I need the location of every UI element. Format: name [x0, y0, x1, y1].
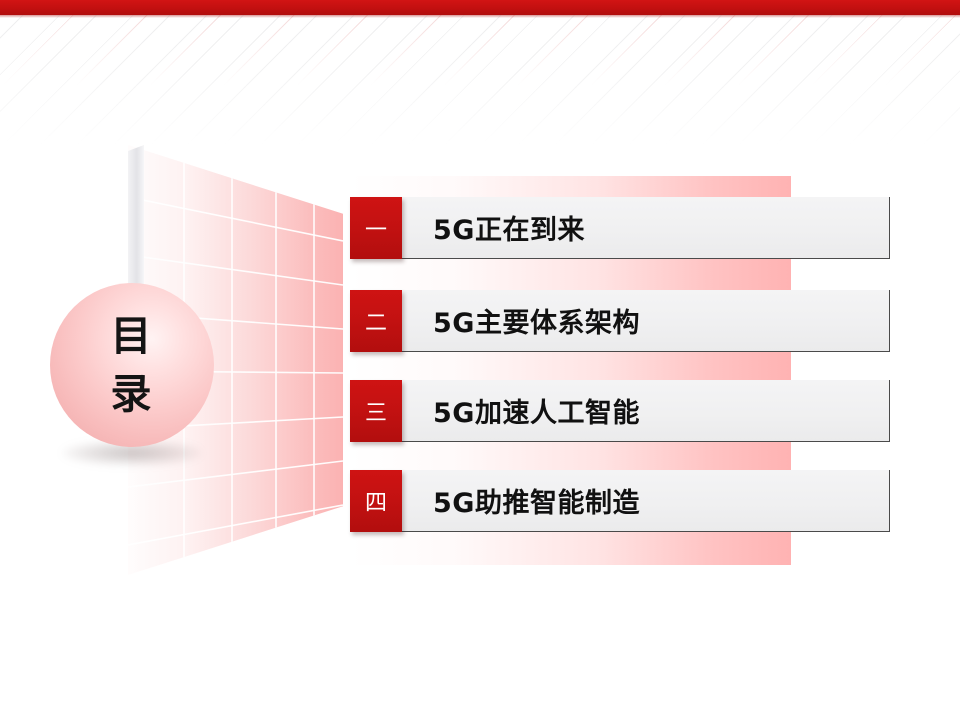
toc-item-1-bar[interactable]: 5G正在到来	[402, 197, 890, 259]
toc-item-2-label: 5G主要体系架构	[433, 301, 640, 340]
toc-item-1-numeral-badge: 一	[350, 197, 402, 259]
toc-item-3-numeral: 三	[365, 395, 387, 427]
toc-item-2-numeral-badge: 二	[350, 290, 402, 352]
toc-item-1-numeral: 一	[365, 212, 387, 244]
toc-item-1[interactable]: 一 5G正在到来	[350, 197, 890, 259]
toc-item-1-label: 5G正在到来	[433, 208, 585, 247]
toc-item-2[interactable]: 二 5G主要体系架构	[350, 290, 890, 352]
toc-item-3[interactable]: 三 5G加速人工智能	[350, 380, 890, 442]
toc-item-3-numeral-badge: 三	[350, 380, 402, 442]
toc-item-2-bar[interactable]: 5G主要体系架构	[402, 290, 890, 352]
toc-list: 一 5G正在到来 二 5G主要体系架构 三 5G加速人工智能 四	[0, 0, 960, 720]
toc-item-3-label: 5G加速人工智能	[433, 391, 640, 430]
toc-item-2-numeral: 二	[365, 305, 387, 337]
toc-item-3-bar[interactable]: 5G加速人工智能	[402, 380, 890, 442]
toc-item-4[interactable]: 四 5G助推智能制造	[350, 470, 890, 532]
toc-item-4-numeral-badge: 四	[350, 470, 402, 532]
toc-item-4-numeral: 四	[365, 485, 387, 517]
toc-item-4-bar[interactable]: 5G助推智能制造	[402, 470, 890, 532]
slide-canvas: 目 录 一 5G正在到来 二 5G主要体系架构 三	[0, 0, 960, 720]
toc-item-4-label: 5G助推智能制造	[433, 481, 640, 520]
